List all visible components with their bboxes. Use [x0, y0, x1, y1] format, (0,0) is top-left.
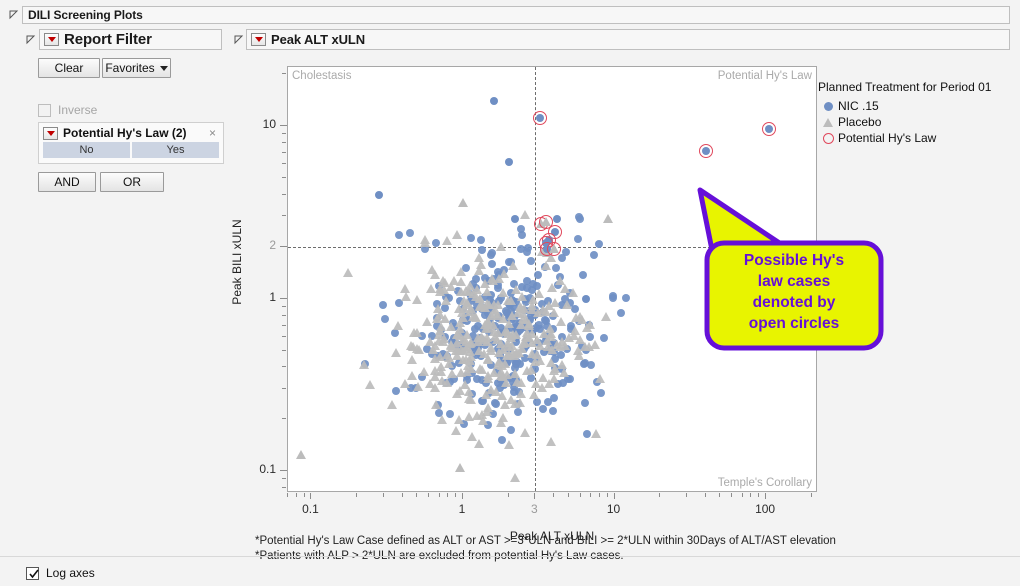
data-point-placebo[interactable] [461, 286, 471, 295]
axis-tick [282, 152, 286, 153]
data-point-placebo[interactable] [296, 450, 306, 459]
data-point-placebo[interactable] [451, 426, 461, 435]
inverse-label: Inverse [58, 103, 97, 117]
axis-tick [416, 493, 417, 497]
data-point-placebo[interactable] [508, 261, 518, 270]
data-point-nic[interactable] [527, 257, 535, 265]
axis-tick [750, 493, 751, 497]
plot-title: Peak ALT xULN [271, 32, 365, 47]
y-tick-label: 0.1 [259, 462, 276, 476]
data-point-placebo[interactable] [503, 296, 513, 305]
data-point-placebo[interactable] [446, 322, 456, 331]
y-axis-label: Peak BILI xULN [230, 219, 244, 304]
quadrant-label-potential-hys-law: Potential Hy's Law [718, 70, 812, 82]
data-point-placebo[interactable] [401, 292, 411, 301]
axis-tick [607, 493, 608, 497]
legend-item-nic[interactable]: NIC .15 [818, 98, 1013, 114]
data-point-nic[interactable] [549, 407, 557, 415]
legend-label-nic: NIC .15 [838, 99, 879, 113]
clear-button-label: Clear [55, 61, 84, 75]
inverse-checkbox[interactable] [38, 104, 51, 117]
legend-item-potential-hys-law[interactable]: Potential Hy's Law [818, 130, 1013, 146]
data-point-placebo[interactable] [391, 348, 401, 357]
data-point-nic[interactable] [579, 271, 587, 279]
data-point-nic[interactable] [392, 387, 400, 395]
axis-tick [462, 493, 463, 499]
x-tick-label: 10 [607, 502, 620, 516]
data-point-nic[interactable] [477, 236, 485, 244]
axis-tick [439, 493, 440, 497]
data-point-placebo[interactable] [556, 317, 566, 326]
data-point-placebo[interactable] [575, 312, 585, 321]
data-point-nic[interactable] [553, 215, 561, 223]
data-point-placebo[interactable] [480, 279, 490, 288]
data-point-placebo[interactable] [532, 335, 542, 344]
legend-item-placebo[interactable]: Placebo [818, 114, 1013, 130]
data-point-placebo[interactable] [419, 367, 429, 376]
axis-tick [765, 493, 766, 499]
data-point-nic[interactable] [600, 334, 608, 342]
axis-tick [282, 142, 286, 143]
axis-tick [742, 493, 743, 497]
quadrant-label-cholestasis: Cholestasis [292, 70, 351, 82]
potential-hys-law-ring[interactable] [547, 242, 561, 256]
data-point-placebo[interactable] [546, 437, 556, 446]
disclosure-triangle-plot[interactable] [233, 34, 245, 46]
quadrant-label-temples-corollary: Temple's Corollary [718, 477, 812, 489]
axis-tick [534, 493, 535, 499]
data-point-nic[interactable] [558, 254, 566, 262]
data-point-nic[interactable] [514, 408, 522, 416]
data-point-placebo[interactable] [500, 400, 510, 409]
axis-tick [659, 493, 660, 497]
axis-tick [599, 493, 600, 497]
axis-tick [553, 493, 554, 497]
data-point-nic[interactable] [539, 405, 547, 413]
data-point-placebo[interactable] [520, 210, 530, 219]
axis-tick [304, 493, 305, 497]
filter-card-header: Potential Hy's Law (2) × [39, 123, 223, 140]
data-point-nic[interactable] [552, 264, 560, 272]
data-point-placebo[interactable] [590, 340, 600, 349]
data-point-placebo[interactable] [452, 230, 462, 239]
data-point-nic[interactable] [375, 191, 383, 199]
data-point-placebo[interactable] [457, 308, 467, 317]
data-point-placebo[interactable] [393, 321, 403, 330]
data-point-placebo[interactable] [496, 418, 506, 427]
axis-tick [280, 125, 287, 126]
data-point-placebo[interactable] [595, 374, 605, 383]
data-point-placebo[interactable] [502, 351, 512, 360]
x-tick-label: 1 [459, 502, 466, 516]
potential-hys-law-ring[interactable] [699, 144, 713, 158]
data-point-placebo[interactable] [456, 267, 466, 276]
data-point-placebo[interactable] [575, 335, 585, 344]
data-point-nic[interactable] [590, 251, 598, 259]
axis-tick [280, 246, 287, 247]
log-axes-row[interactable]: Log axes [26, 566, 95, 580]
data-point-nic[interactable] [595, 240, 603, 248]
axis-tick [383, 493, 384, 497]
data-point-placebo[interactable] [500, 327, 510, 336]
axis-tick [282, 133, 286, 134]
inverse-checkbox-row[interactable]: Inverse [38, 103, 97, 117]
data-point-placebo[interactable] [428, 345, 438, 354]
data-point-placebo[interactable] [444, 359, 454, 368]
axis-tick [568, 493, 569, 497]
data-point-placebo[interactable] [529, 390, 539, 399]
data-point-placebo[interactable] [591, 429, 601, 438]
clear-button[interactable]: Clear [38, 58, 100, 78]
data-point-placebo[interactable] [422, 317, 432, 326]
disclosure-triangle-top[interactable] [8, 9, 20, 21]
filter-card-potential-hys-law[interactable]: Potential Hy's Law (2) × No Yes [38, 122, 224, 164]
axis-tick [282, 366, 286, 367]
data-point-placebo[interactable] [440, 278, 450, 287]
data-point-placebo[interactable] [472, 411, 482, 420]
data-point-placebo[interactable] [528, 295, 538, 304]
data-point-placebo[interactable] [466, 338, 476, 347]
data-point-placebo[interactable] [515, 398, 525, 407]
data-point-placebo[interactable] [455, 318, 465, 327]
data-point-placebo[interactable] [432, 314, 442, 323]
data-point-placebo[interactable] [412, 295, 422, 304]
potential-hys-law-ring[interactable] [533, 111, 547, 125]
plot-title-bar: Peak ALT xULN [246, 29, 1010, 50]
data-point-placebo[interactable] [521, 315, 531, 324]
data-point-placebo[interactable] [560, 341, 570, 350]
data-point-placebo[interactable] [559, 368, 569, 377]
data-point-placebo[interactable] [468, 312, 478, 321]
axis-tick [282, 163, 286, 164]
data-point-nic[interactable] [523, 284, 531, 292]
data-point-placebo[interactable] [520, 428, 530, 437]
axis-tick [282, 73, 286, 74]
data-point-nic[interactable] [575, 213, 583, 221]
y-tick-label: 10 [263, 117, 276, 131]
data-point-placebo[interactable] [520, 338, 530, 347]
filter-value-no[interactable]: No [43, 142, 130, 158]
legend-title: Planned Treatment for Period 01 [818, 80, 1013, 94]
y-tick-label: 2 [269, 238, 276, 252]
data-point-placebo[interactable] [474, 439, 484, 448]
axis-tick [731, 493, 732, 497]
axis-tick [455, 493, 456, 497]
report-filter-title-bar: Report Filter [39, 29, 222, 50]
axis-tick [282, 418, 286, 419]
data-point-placebo[interactable] [365, 380, 375, 389]
axis-tick [282, 388, 286, 389]
data-point-nic[interactable] [467, 234, 475, 242]
axis-tick [282, 315, 286, 316]
data-point-nic[interactable] [609, 292, 617, 300]
data-point-placebo[interactable] [475, 294, 485, 303]
favorites-button[interactable]: Favorites [102, 58, 171, 78]
vertical-reference-line [535, 67, 536, 491]
chevron-down-icon [160, 66, 168, 71]
x-tick-label: 3 [531, 502, 538, 516]
axis-tick [280, 470, 287, 471]
data-point-placebo[interactable] [582, 323, 592, 332]
data-point-nic[interactable] [406, 229, 414, 237]
data-point-placebo[interactable] [442, 378, 452, 387]
data-point-placebo[interactable] [499, 269, 509, 278]
data-point-placebo[interactable] [603, 214, 613, 223]
axis-tick [614, 493, 615, 499]
axis-tick [282, 194, 286, 195]
data-point-nic[interactable] [511, 215, 519, 223]
close-icon[interactable]: × [209, 126, 219, 140]
data-point-placebo[interactable] [504, 440, 514, 449]
data-point-placebo[interactable] [454, 415, 464, 424]
data-point-placebo[interactable] [483, 317, 493, 326]
report-filter-title: Report Filter [64, 31, 152, 48]
data-point-nic[interactable] [395, 231, 403, 239]
data-point-placebo[interactable] [387, 400, 397, 409]
data-point-nic[interactable] [381, 315, 389, 323]
data-point-placebo[interactable] [546, 332, 556, 341]
data-point-placebo[interactable] [544, 301, 554, 310]
data-point-placebo[interactable] [425, 379, 435, 388]
and-button-label: AND [54, 175, 79, 189]
axis-tick [282, 306, 286, 307]
data-point-placebo[interactable] [458, 198, 468, 207]
data-point-nic[interactable] [597, 389, 605, 397]
data-point-placebo[interactable] [549, 374, 559, 383]
data-point-placebo[interactable] [482, 333, 492, 342]
axis-tick [758, 493, 759, 497]
data-point-placebo[interactable] [562, 300, 572, 309]
or-button[interactable]: OR [100, 172, 164, 192]
data-point-placebo[interactable] [547, 345, 557, 354]
callout-text: Possible Hy'slaw casesdenoted byopen cir… [712, 250, 876, 334]
data-point-nic[interactable] [622, 294, 630, 302]
data-point-placebo[interactable] [407, 355, 417, 364]
circle-marker-icon [818, 102, 838, 111]
data-point-placebo[interactable] [496, 242, 506, 251]
data-point-placebo[interactable] [474, 253, 484, 262]
data-point-placebo[interactable] [492, 335, 502, 344]
x-tick-label: 0.1 [302, 502, 319, 516]
data-point-nic[interactable] [505, 158, 513, 166]
data-point-placebo[interactable] [489, 300, 499, 309]
axis-tick [719, 493, 720, 497]
data-point-placebo[interactable] [434, 336, 444, 345]
data-point-placebo[interactable] [507, 311, 517, 320]
data-point-placebo[interactable] [466, 364, 476, 373]
data-point-nic[interactable] [581, 359, 589, 367]
data-point-placebo[interactable] [446, 340, 456, 349]
data-point-placebo[interactable] [413, 382, 423, 391]
axis-tick [282, 177, 286, 178]
axis-tick [705, 493, 706, 497]
triangle-marker-icon [818, 118, 838, 127]
data-point-placebo[interactable] [465, 347, 475, 356]
data-point-placebo[interactable] [343, 268, 353, 277]
data-point-nic[interactable] [583, 430, 591, 438]
data-point-placebo[interactable] [481, 390, 491, 399]
y-tick-label: 1 [269, 290, 276, 304]
data-point-nic[interactable] [544, 398, 552, 406]
axis-tick [310, 493, 311, 499]
data-point-nic[interactable] [617, 309, 625, 317]
data-point-placebo[interactable] [407, 371, 417, 380]
data-point-nic[interactable] [473, 375, 481, 383]
data-point-placebo[interactable] [420, 238, 430, 247]
log-axes-label: Log axes [46, 566, 95, 580]
data-point-nic[interactable] [488, 249, 496, 257]
log-axes-checkbox[interactable] [26, 567, 39, 580]
footnote-1: *Potential Hy's Law Case defined as ALT … [255, 534, 955, 549]
data-point-placebo[interactable] [456, 368, 466, 377]
data-point-placebo[interactable] [601, 312, 611, 321]
data-point-nic[interactable] [534, 271, 542, 279]
axis-tick [296, 493, 297, 497]
data-point-placebo[interactable] [452, 389, 462, 398]
axis-tick [287, 493, 288, 497]
data-point-placebo[interactable] [517, 292, 527, 301]
data-point-placebo[interactable] [496, 367, 506, 376]
axis-tick [580, 493, 581, 497]
data-point-placebo[interactable] [412, 328, 422, 337]
filter-card-title: Potential Hy's Law (2) [63, 126, 187, 140]
data-point-nic[interactable] [507, 426, 515, 434]
window-title: DILI Screening Plots [28, 8, 143, 22]
data-point-placebo[interactable] [442, 236, 452, 245]
red-triangle-menu-icon-filter[interactable] [43, 127, 58, 140]
data-point-nic[interactable] [574, 235, 582, 243]
axis-tick [356, 493, 357, 497]
data-point-placebo[interactable] [512, 377, 522, 386]
data-point-placebo[interactable] [455, 463, 465, 472]
axis-tick [282, 350, 286, 351]
data-point-placebo[interactable] [482, 407, 492, 416]
window-title-bar: DILI Screening Plots [22, 6, 1010, 24]
filter-value-list: No Yes [39, 140, 223, 158]
axis-tick [590, 493, 591, 497]
axis-tick [447, 493, 448, 497]
legend-label-potential-hys-law: Potential Hy's Law [838, 131, 936, 145]
data-point-nic[interactable] [379, 301, 387, 309]
axis-tick [282, 215, 286, 216]
data-point-placebo[interactable] [483, 374, 493, 383]
data-point-nic[interactable] [488, 260, 496, 268]
data-point-placebo[interactable] [574, 351, 584, 360]
data-point-placebo[interactable] [474, 266, 484, 275]
red-triangle-menu-icon-plot[interactable] [251, 33, 266, 46]
data-point-nic[interactable] [523, 248, 531, 256]
data-point-placebo[interactable] [466, 395, 476, 404]
data-point-placebo[interactable] [359, 360, 369, 369]
x-tick-label: 100 [755, 502, 775, 516]
axis-tick [282, 325, 286, 326]
red-triangle-menu-icon[interactable] [44, 33, 59, 46]
axis-tick [686, 493, 687, 497]
data-point-placebo[interactable] [491, 387, 501, 396]
potential-hys-law-ring[interactable] [762, 122, 776, 136]
data-point-nic[interactable] [582, 295, 590, 303]
data-point-placebo[interactable] [431, 400, 441, 409]
data-point-nic[interactable] [391, 329, 399, 337]
data-point-placebo[interactable] [555, 276, 565, 285]
data-point-placebo[interactable] [408, 342, 418, 351]
data-point-placebo[interactable] [490, 309, 500, 318]
axis-tick [282, 336, 286, 337]
data-point-nic[interactable] [490, 97, 498, 105]
axis-tick [280, 298, 287, 299]
data-point-placebo[interactable] [507, 341, 517, 350]
favorites-button-label: Favorites [105, 61, 154, 75]
filter-value-yes[interactable]: Yes [132, 142, 219, 158]
legend-label-placebo: Placebo [838, 115, 881, 129]
axis-tick [508, 493, 509, 497]
legend: Planned Treatment for Period 01 NIC .15 … [818, 80, 1013, 146]
axis-tick [282, 478, 286, 479]
data-point-placebo[interactable] [538, 373, 548, 382]
data-point-placebo[interactable] [483, 355, 493, 364]
data-point-placebo[interactable] [510, 473, 520, 482]
data-point-nic[interactable] [557, 351, 565, 359]
disclosure-triangle-report-filter[interactable] [25, 34, 37, 46]
open-circle-marker-icon [818, 133, 838, 144]
axis-tick [428, 493, 429, 497]
and-button[interactable]: AND [38, 172, 96, 192]
data-point-placebo[interactable] [541, 261, 551, 270]
axis-tick [282, 487, 286, 488]
axis-tick [402, 493, 403, 497]
axis-tick [811, 493, 812, 497]
data-point-nic[interactable] [581, 399, 589, 407]
data-point-placebo[interactable] [437, 415, 447, 424]
divider [0, 556, 1020, 557]
data-point-placebo[interactable] [532, 350, 542, 359]
or-button-label: OR [123, 175, 141, 189]
footnotes: *Potential Hy's Law Case defined as ALT … [255, 534, 955, 564]
data-point-placebo[interactable] [526, 365, 536, 374]
data-point-placebo[interactable] [436, 362, 446, 371]
